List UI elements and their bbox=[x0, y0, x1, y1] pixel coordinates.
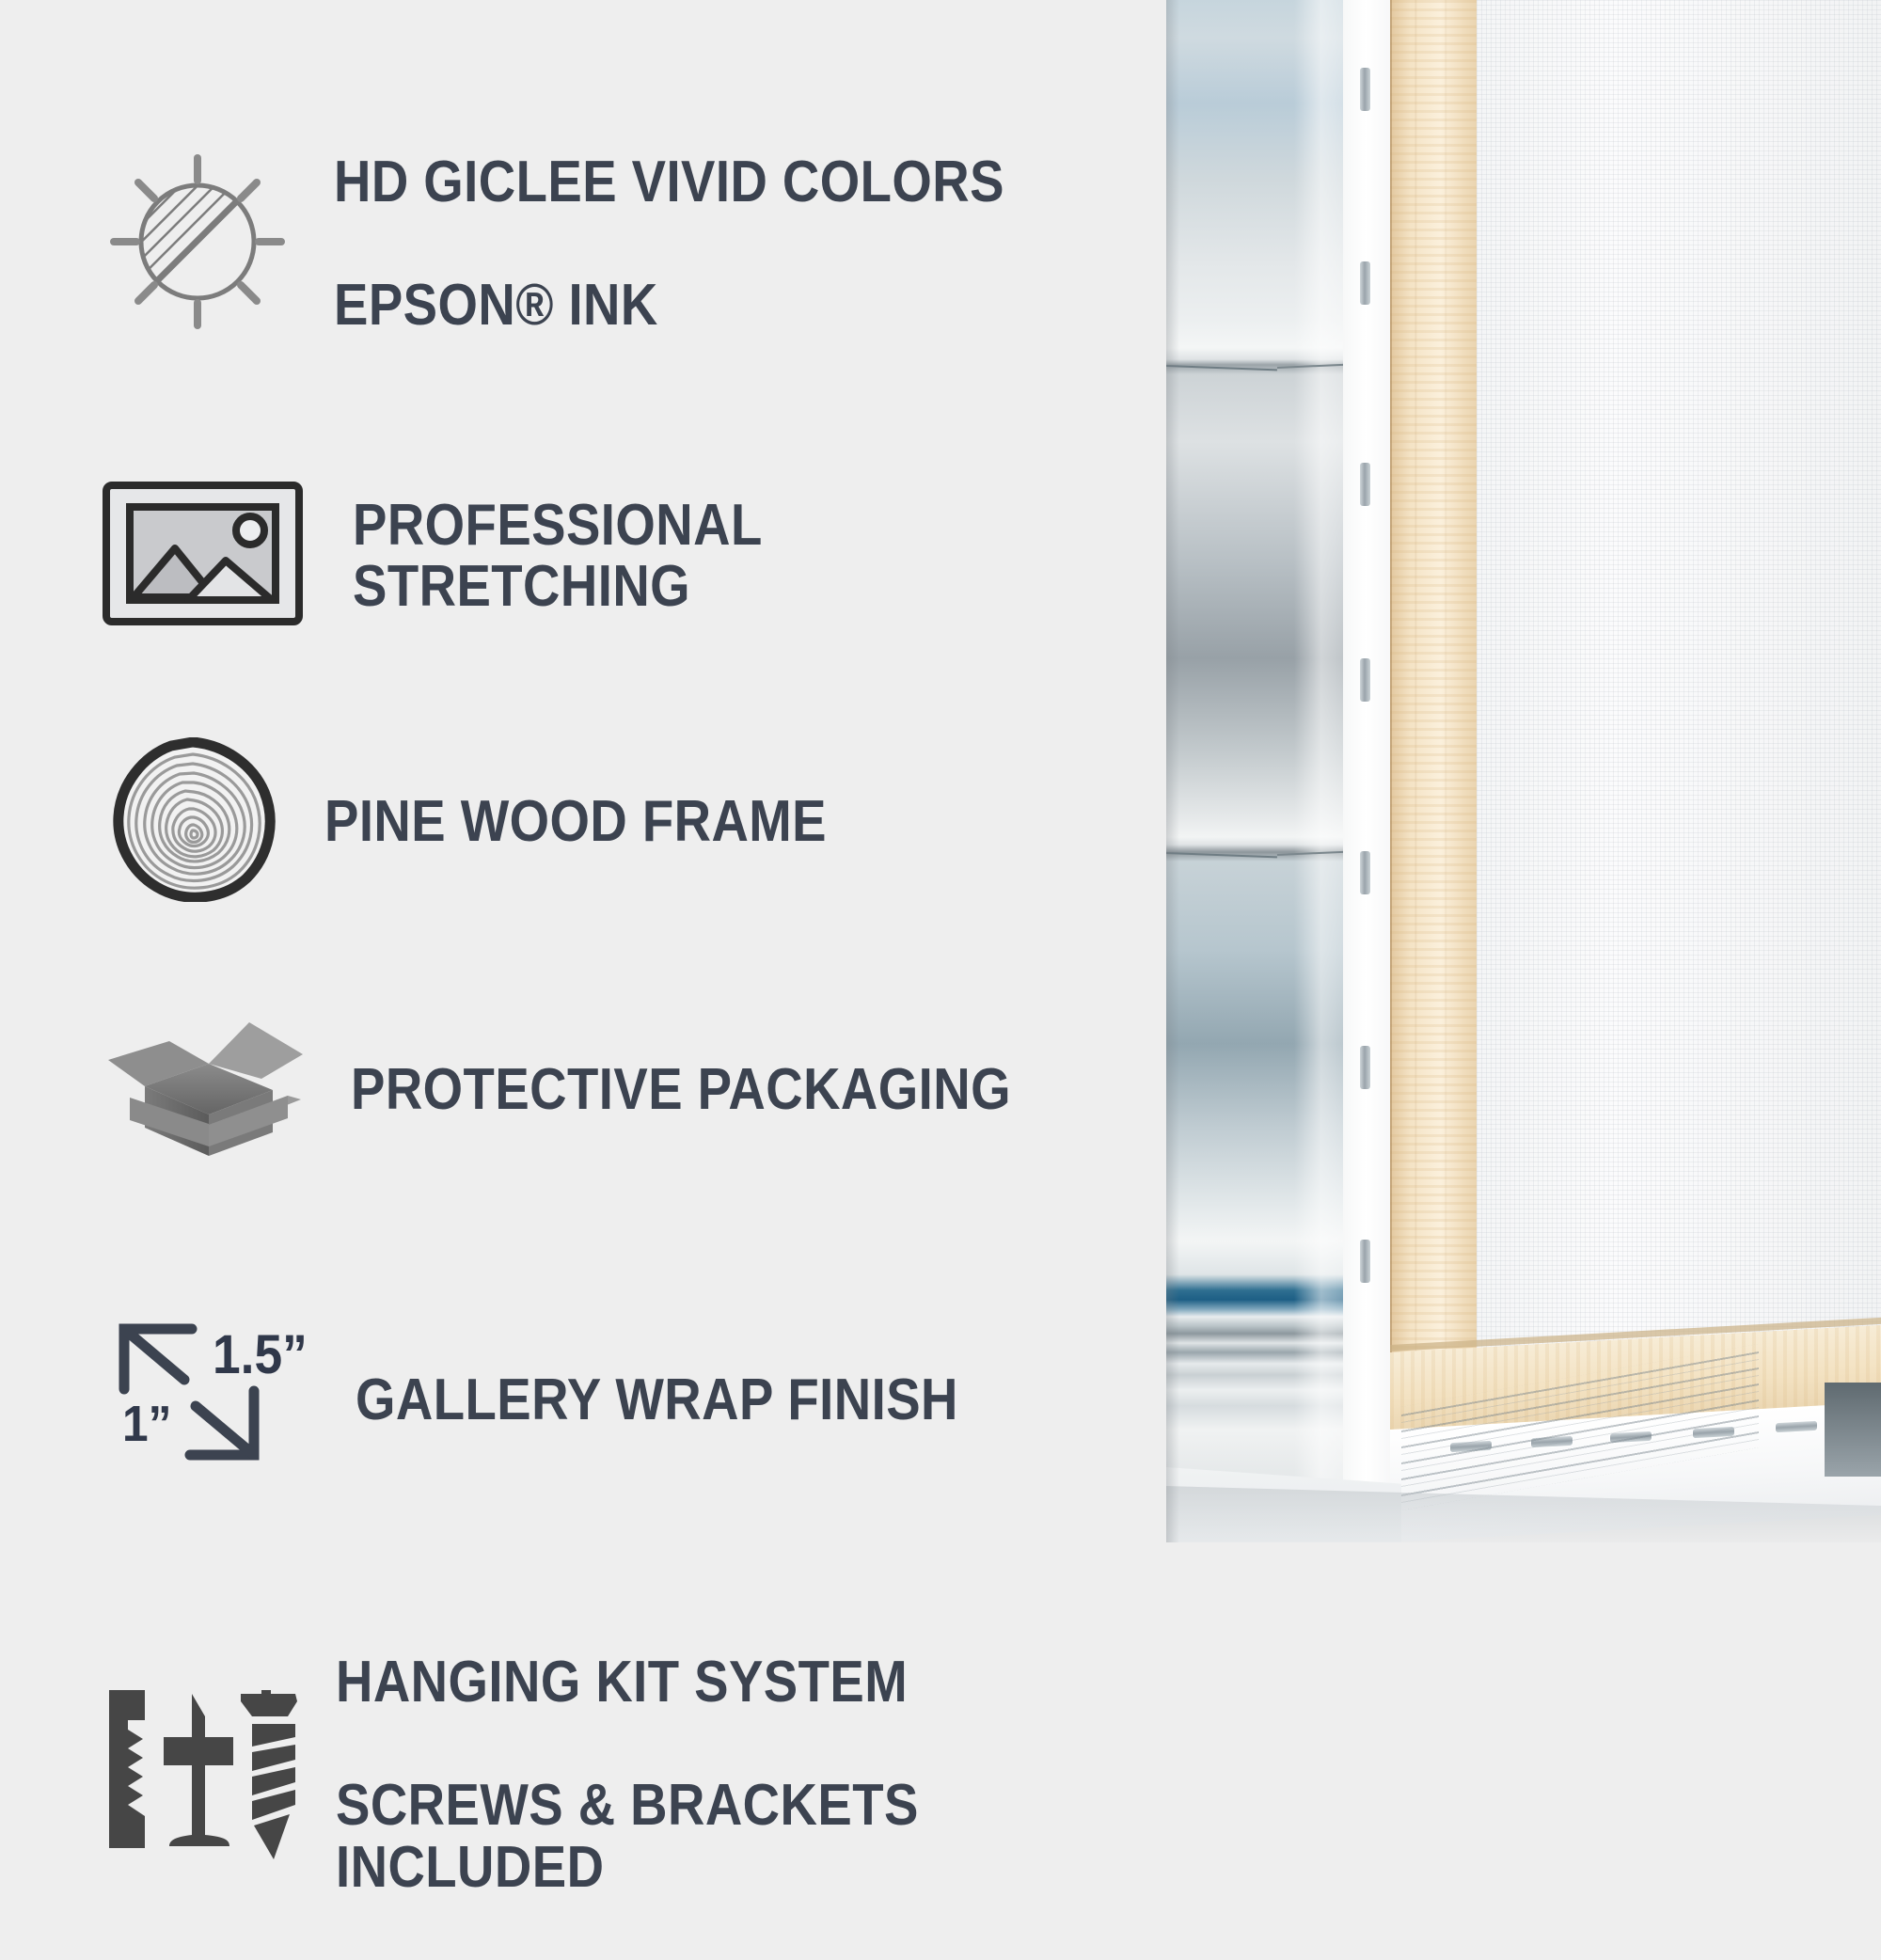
hardware-icon bbox=[102, 1679, 304, 1872]
picture-frame-icon bbox=[102, 481, 304, 631]
feature-label-line: PROFESSIONAL STRETCHING bbox=[353, 495, 1077, 618]
sun-icon bbox=[108, 152, 287, 336]
canvas-side-wrap-artwork bbox=[1166, 0, 1354, 1528]
staple bbox=[1360, 1046, 1370, 1089]
feature-list: HD GICLEE VIVID COLORS EPSON® INK PROFES… bbox=[0, 0, 1176, 1881]
staple bbox=[1360, 68, 1370, 111]
feature-item-hd-giclee: HD GICLEE VIVID COLORS EPSON® INK bbox=[108, 89, 1096, 399]
tree-rings-icon bbox=[111, 737, 276, 907]
feature-label-line: HANGING KIT SYSTEM bbox=[336, 1652, 1075, 1714]
feature-label-line: GALLERY WRAP FINISH bbox=[356, 1369, 958, 1431]
dimension-label-depth: 1.5” bbox=[213, 1323, 308, 1386]
feature-label-line: PINE WOOD FRAME bbox=[324, 791, 827, 853]
feature-label: HANGING KIT SYSTEM SCREWS & BRACKETS INC… bbox=[336, 1589, 1075, 1960]
feature-label-line: EPSON® INK bbox=[334, 275, 1004, 337]
feature-label: PROFESSIONAL STRETCHING bbox=[353, 433, 1077, 680]
feature-label: GALLERY WRAP FINISH bbox=[356, 1307, 958, 1493]
canvas-print-corner-photo bbox=[1166, 0, 1881, 1542]
feature-label-line: PROTECTIVE PACKAGING bbox=[351, 1059, 1011, 1121]
feature-label: PINE WOOD FRAME bbox=[324, 729, 827, 914]
pine-stretcher-bar-vertical bbox=[1390, 0, 1482, 1467]
feature-label-line: SCREWS & BRACKETS INCLUDED bbox=[336, 1775, 1075, 1898]
staple bbox=[1360, 463, 1370, 506]
feature-label: HD GICLEE VIVID COLORS EPSON® INK bbox=[334, 89, 1004, 399]
dimension-arrows-icon: 1.5” 1” bbox=[111, 1318, 327, 1482]
feature-item-protective-packaging: PROTECTIVE PACKAGING bbox=[103, 997, 1101, 1182]
staple bbox=[1360, 261, 1370, 305]
product-feature-infographic: HD GICLEE VIVID COLORS EPSON® INK PROFES… bbox=[0, 0, 1881, 1881]
dimension-label-thickness: 1” bbox=[122, 1395, 171, 1453]
wood-grain-texture bbox=[1390, 0, 1482, 1467]
feature-item-hanging-kit: HANGING KIT SYSTEM SCREWS & BRACKETS INC… bbox=[102, 1589, 1176, 1960]
artwork-dark-edge bbox=[1825, 1383, 1881, 1477]
staple bbox=[1360, 658, 1370, 702]
feature-label: PROTECTIVE PACKAGING bbox=[351, 997, 1011, 1182]
feature-item-pine-wood-frame: PINE WOOD FRAME bbox=[111, 729, 895, 914]
staple bbox=[1360, 851, 1370, 894]
feature-label-line: HD GICLEE VIVID COLORS bbox=[334, 151, 1004, 213]
feature-item-gallery-wrap-finish: 1.5” 1” GALLERY WRAP FINISH bbox=[111, 1307, 1040, 1493]
staple bbox=[1360, 1240, 1370, 1283]
open-box-icon bbox=[103, 1005, 306, 1175]
feature-item-professional-stretching: PROFESSIONAL STRETCHING bbox=[102, 433, 1176, 680]
canvas-back-texture bbox=[1477, 0, 1881, 1392]
